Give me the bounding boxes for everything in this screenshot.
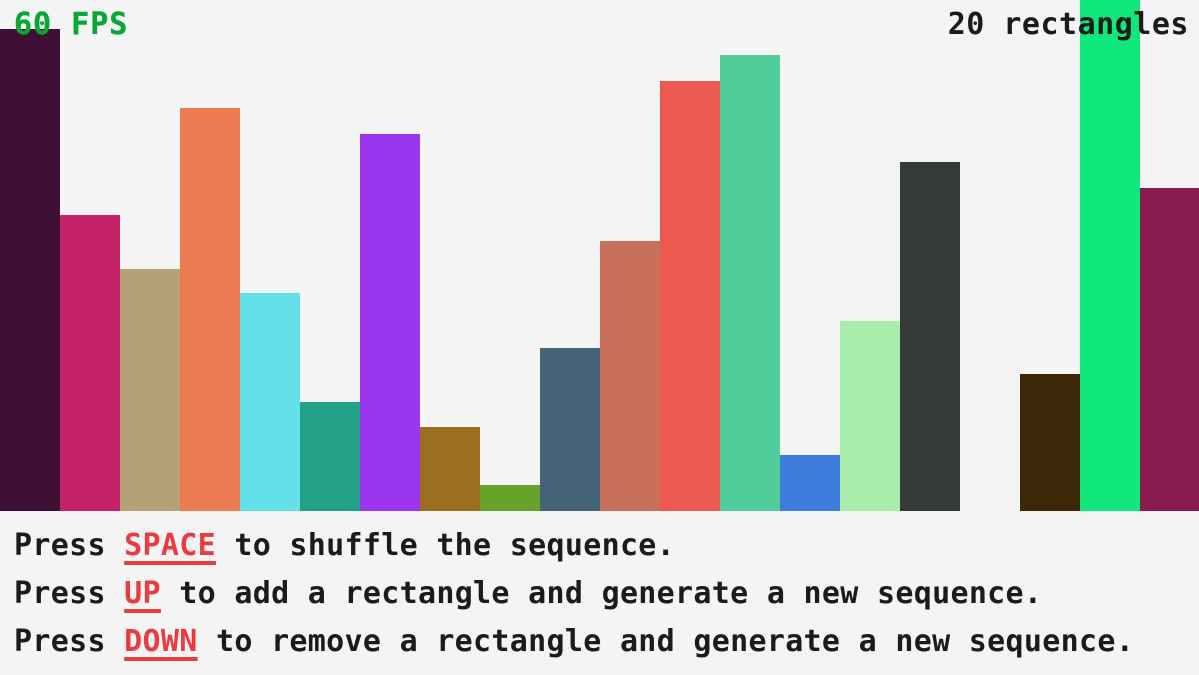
bar-9	[480, 485, 540, 511]
bar-15	[840, 321, 900, 511]
bar-2	[60, 215, 120, 511]
key-down[interactable]: DOWN	[124, 624, 197, 659]
instruction-prefix: Press	[14, 528, 124, 563]
instruction-suffix: to remove a rectangle and generate a new…	[198, 624, 1134, 659]
bar-20	[1140, 188, 1199, 511]
bar-12	[660, 81, 720, 511]
bar-19	[1080, 0, 1140, 511]
bar-14	[780, 455, 840, 511]
bar-1	[0, 29, 60, 511]
bar-3	[120, 269, 180, 511]
bar-8	[420, 427, 480, 511]
bar-7	[360, 134, 420, 511]
key-up[interactable]: UP	[124, 576, 161, 611]
game-canvas: 60 FPS 20 rectangles Press SPACE to shuf…	[0, 0, 1199, 675]
bar-5	[240, 293, 300, 511]
bar-4	[180, 108, 240, 511]
instruction-line-shuffle: Press SPACE to shuffle the sequence.	[14, 531, 675, 561]
bar-18	[1020, 374, 1080, 511]
instruction-suffix: to add a rectangle and generate a new se…	[161, 576, 1042, 611]
bar-16	[900, 162, 960, 511]
instruction-line-add: Press UP to add a rectangle and generate…	[14, 579, 1042, 609]
instructions-panel: Press SPACE to shuffle the sequence. Pre…	[0, 511, 1199, 675]
fps-counter: 60 FPS	[14, 10, 128, 40]
bar-11	[600, 241, 660, 511]
instruction-prefix: Press	[14, 576, 124, 611]
bar-10	[540, 348, 600, 511]
instruction-suffix: to shuffle the sequence.	[216, 528, 675, 563]
bar-chart	[0, 0, 1199, 511]
rectangle-count-label: 20 rectangles	[948, 10, 1189, 40]
bar-13	[720, 55, 780, 511]
bar-6	[300, 402, 360, 511]
key-space[interactable]: SPACE	[124, 528, 216, 563]
instruction-prefix: Press	[14, 624, 124, 659]
instruction-line-remove: Press DOWN to remove a rectangle and gen…	[14, 627, 1134, 657]
